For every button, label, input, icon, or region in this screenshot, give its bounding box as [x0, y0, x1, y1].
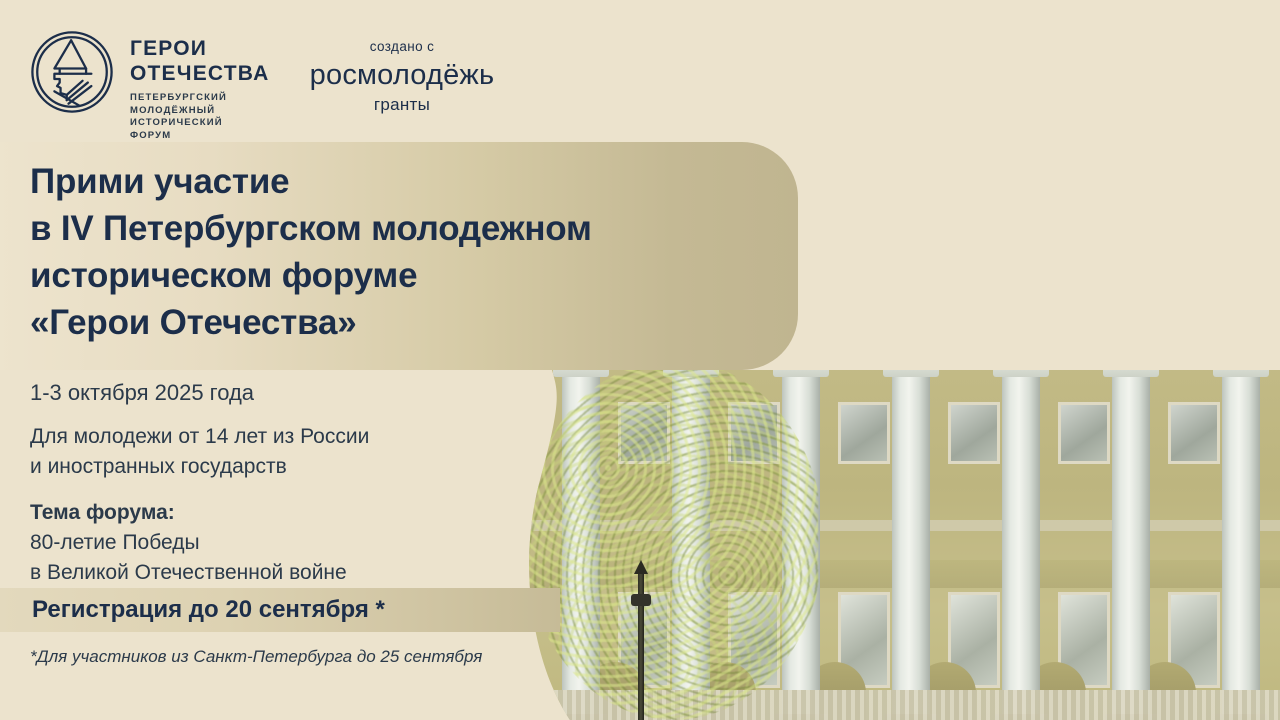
title-line-1: Прими участие [30, 158, 790, 205]
flagpole-icon [940, 18, 945, 243]
double-headed-eagle-icon [830, 248, 950, 340]
logo-subtitle-line-4: ФОРУМ [130, 130, 270, 143]
window-upper [1058, 402, 1110, 464]
logo-name-line-1: ГЕРОИ [130, 36, 270, 61]
event-theme: Тема форума: 80-летие Победы в Великой О… [30, 498, 530, 588]
theme-line-1: 80-летие Победы [30, 528, 530, 558]
partner-logo: создано с росмолодёжь гранты [292, 38, 512, 116]
window-upper [838, 402, 890, 464]
partner-suffix: гранты [292, 94, 512, 116]
logo-subtitle-line-3: ИСТОРИЧЕСКИЙ [130, 117, 270, 130]
title-line-3: историческом форуме [30, 252, 790, 299]
column [892, 375, 930, 720]
logo-subtitle-line-1: ПЕТЕРБУРГСКИЙ [130, 92, 270, 105]
column [1112, 375, 1150, 720]
theme-label: Тема форума: [30, 498, 530, 528]
partner-brand: росмолодёжь [292, 57, 512, 93]
chimney-right [1160, 230, 1220, 266]
audience-line-1: Для молодежи от 14 лет из России [30, 422, 530, 452]
soldier-profile-emblem-icon [28, 28, 116, 116]
theme-line-2: в Великой Отечественной войне [30, 558, 530, 588]
street-lamp-icon [638, 570, 644, 720]
title-line-2: в IV Петербургском молодежном [30, 205, 790, 252]
window-upper [1168, 402, 1220, 464]
audience-line-2: и иностранных государств [30, 452, 530, 482]
column [1222, 375, 1260, 720]
registration-footnote: *Для участников из Санкт-Петербурга до 2… [30, 645, 482, 669]
event-date: 1-3 октября 2025 года [30, 378, 530, 408]
partner-prefix: создано с [292, 38, 512, 56]
poster-root: Прими участие в IV Петербургском молодеж… [0, 0, 1280, 720]
title-line-4: «Герои Отечества» [30, 299, 790, 346]
forum-logo: ГЕРОИ ОТЕЧЕСТВА ПЕТЕРБУРГСКИЙ МОЛОДЁЖНЫЙ… [28, 28, 270, 142]
russian-flag-icon [945, 28, 1117, 124]
page-title: Прими участие в IV Петербургском молодеж… [30, 158, 790, 346]
event-info: 1-3 октября 2025 года Для молодежи от 14… [30, 378, 530, 588]
registration-headline: Регистрация до 20 сентября * [32, 593, 385, 627]
column [1002, 375, 1040, 720]
window-upper [948, 402, 1000, 464]
event-audience: Для молодежи от 14 лет из России и иност… [30, 422, 530, 482]
logo-subtitle-line-2: МОЛОДЁЖНЫЙ [130, 105, 270, 118]
logo-name-line-2: ОТЕЧЕСТВА [130, 61, 270, 86]
